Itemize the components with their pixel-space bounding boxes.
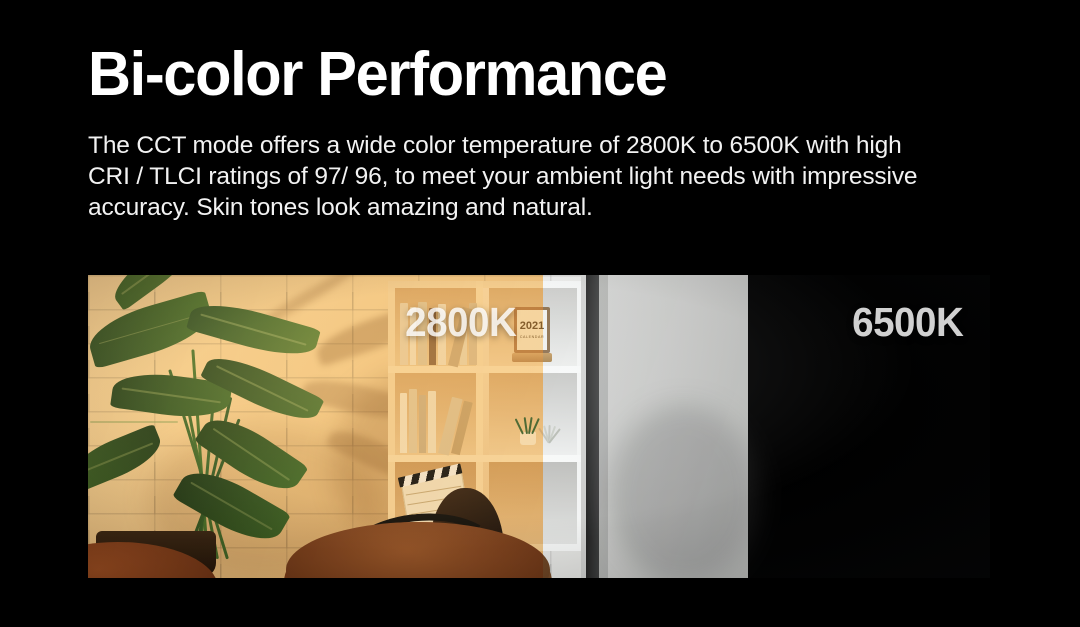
shelf-divider	[543, 366, 584, 373]
page-title: Bi-color Performance	[88, 44, 666, 106]
sidewall-shadow	[608, 405, 758, 578]
desk-calendar: 2021 CALENDAR	[543, 307, 550, 353]
color-temp-label-cool: 6500K	[852, 299, 963, 346]
comparison-panel-cool: 2021 CALENDAR	[543, 275, 990, 578]
description-text: The CCT mode offers a wide color tempera…	[88, 130, 968, 223]
color-temperature-comparison-image: 2021 CALENDAR	[88, 275, 990, 578]
description-line-2: CRI / TLCI ratings of 97/ 96, to meet yo…	[88, 161, 968, 192]
description-line-3: accuracy. Skin tones look amazing and na…	[88, 192, 968, 223]
door-post	[586, 275, 599, 578]
plant-leaf	[186, 294, 321, 364]
book-group	[400, 389, 460, 453]
calendar-easel	[512, 353, 543, 362]
calendar-year: 2021	[543, 321, 544, 332]
calendar-easel	[543, 353, 552, 362]
dried-fan-decor	[543, 421, 560, 443]
desk-calendar: 2021 CALENDAR	[514, 307, 543, 353]
calendar-caption: CALENDAR	[543, 335, 544, 339]
shelf-divider	[388, 366, 543, 373]
shelf-divider	[543, 455, 584, 462]
product-feature-slide: Bi-color Performance The CCT mode offers…	[0, 0, 1080, 627]
book	[409, 389, 417, 453]
book	[400, 393, 407, 453]
shelf-cell-shade	[543, 462, 577, 544]
comparison-panel-warm: 2021 CALENDAR	[88, 275, 543, 578]
book	[428, 391, 436, 453]
bookshelf: 2021 CALENDAR	[543, 281, 584, 551]
calendar-year: 2021	[520, 321, 543, 332]
shelf-divider	[388, 455, 543, 462]
color-temp-label-warm: 2800K	[405, 299, 516, 346]
book	[419, 395, 426, 453]
description-line-1: The CCT mode offers a wide color tempera…	[88, 130, 968, 161]
calendar-caption: CALENDAR	[520, 335, 543, 339]
post-shadow	[599, 275, 608, 578]
